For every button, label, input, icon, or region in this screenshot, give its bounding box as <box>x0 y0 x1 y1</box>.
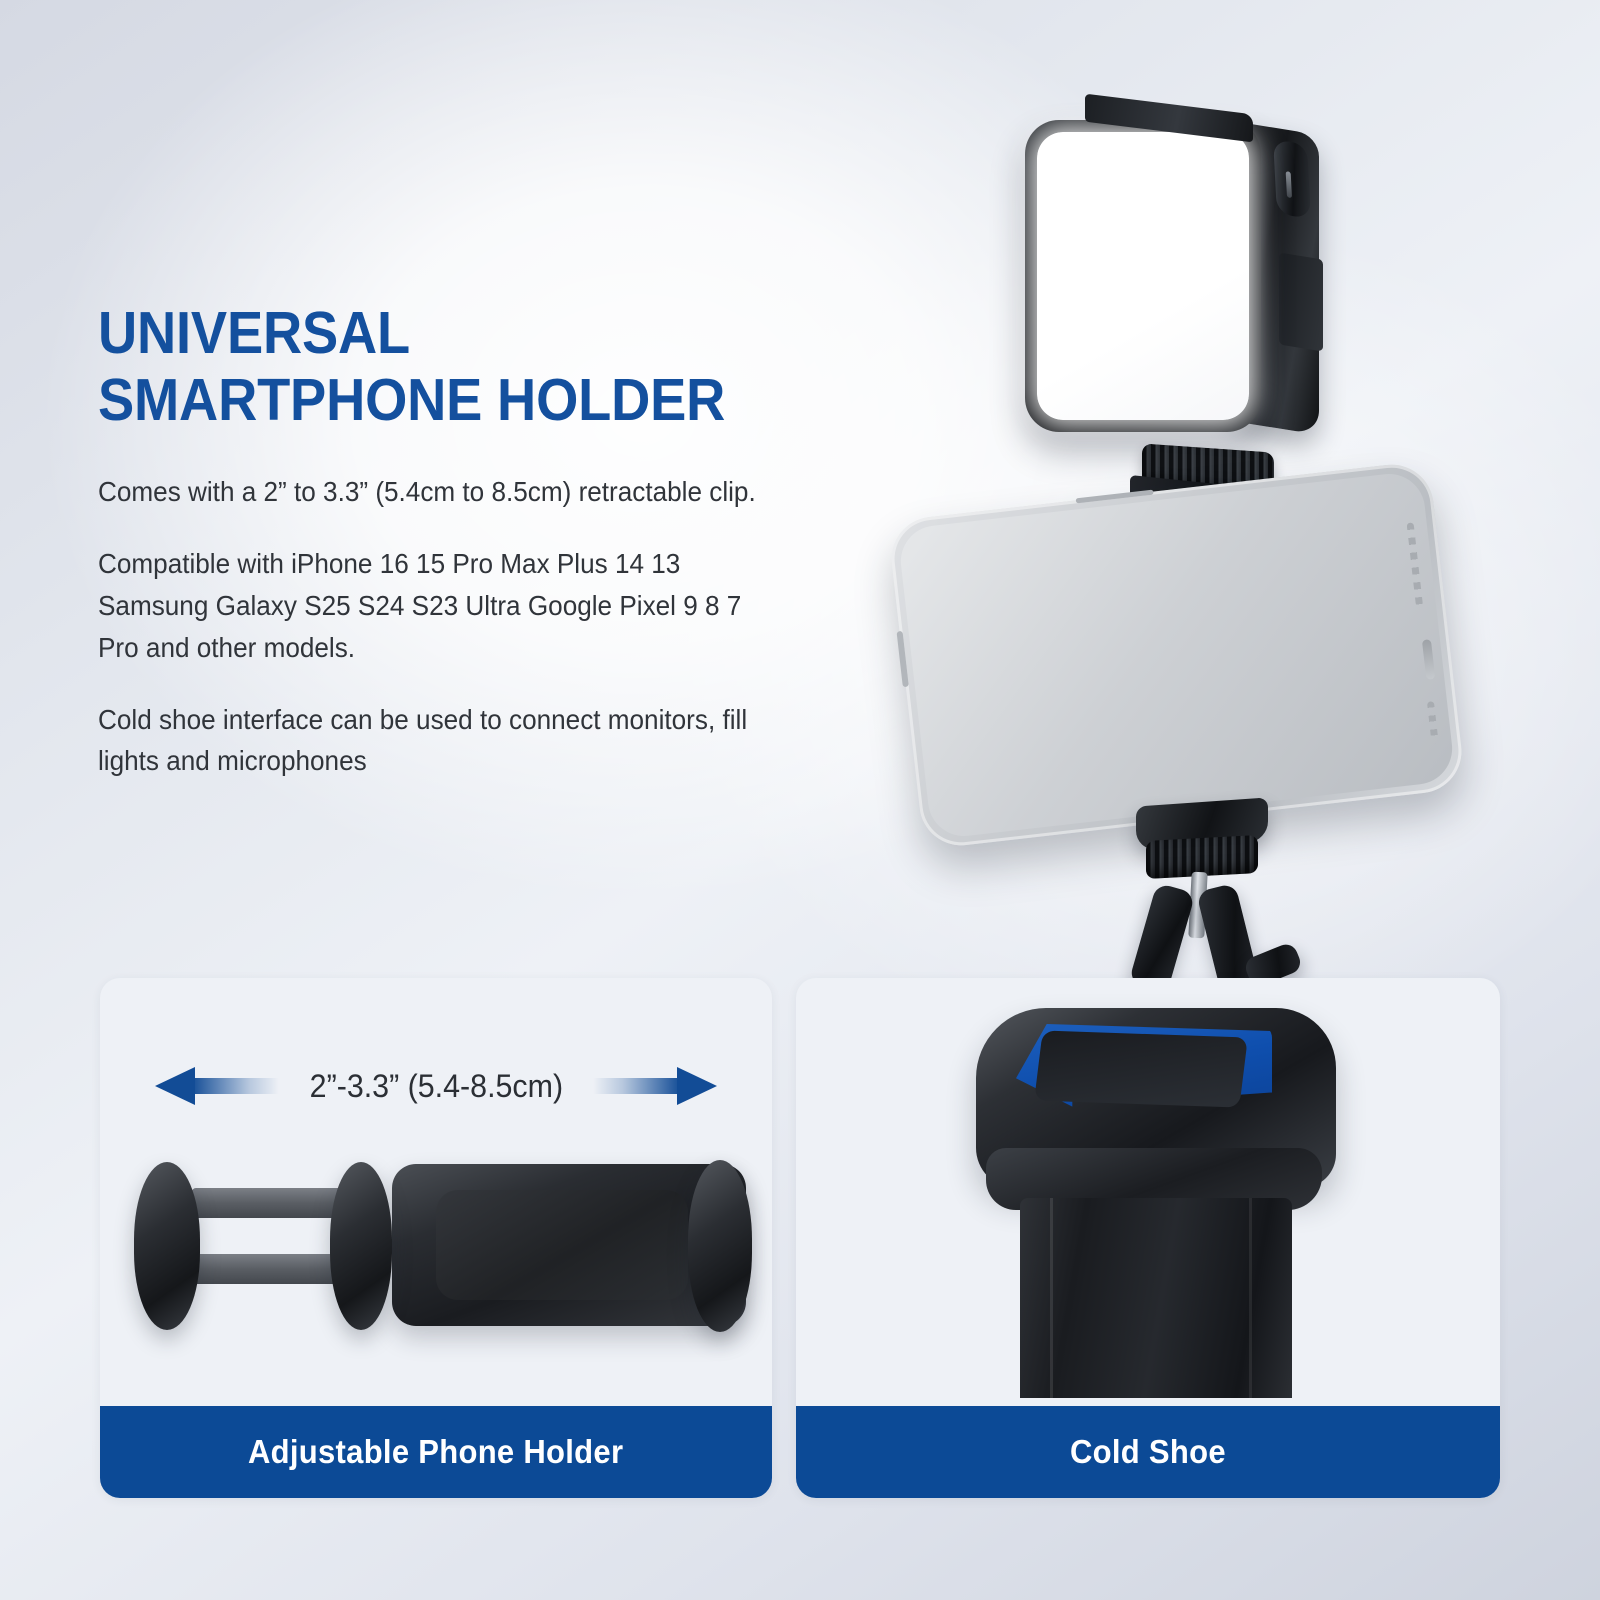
copy-block: UNIVERSAL SMARTPHONE HOLDER Comes with a… <box>98 300 798 782</box>
led-light-frame <box>1025 120 1261 432</box>
holder-grip-pad <box>436 1190 688 1300</box>
led-light-battery-door <box>1279 253 1323 352</box>
page-title-line-1: UNIVERSAL <box>98 300 742 367</box>
holder-end-cap-middle <box>330 1162 392 1330</box>
tripod-leg-left <box>1128 883 1195 994</box>
led-light-dial-knob <box>1273 140 1311 219</box>
left-arrow-head <box>155 1067 195 1105</box>
feature-paragraph-3: Cold shoe interface can be used to conne… <box>98 699 763 783</box>
panel-right-caption: Cold Shoe <box>796 1406 1500 1498</box>
lower-ball-head-mount <box>1128 802 1278 972</box>
panel-left-caption: Adjustable Phone Holder <box>100 1406 772 1498</box>
led-fill-light <box>1025 98 1345 458</box>
panel-left-illustration-area: 2”-3.3” (5.4-8.5cm) <box>100 978 772 1406</box>
smartphone <box>887 460 1466 850</box>
holder-end-cap-far <box>134 1162 200 1330</box>
page-title-line-2: SMARTPHONE HOLDER <box>98 367 742 434</box>
phone-holder-clamp-illustration <box>130 1146 746 1346</box>
right-arrow-icon <box>593 1067 717 1105</box>
holder-rail-upper <box>192 1188 352 1218</box>
phone-chassis <box>887 460 1466 850</box>
dimension-indicator-row: 2”-3.3” (5.4-8.5cm) <box>100 1056 772 1116</box>
panel-right-caption-text: Cold Shoe <box>1070 1433 1226 1471</box>
feature-paragraph-1: Comes with a 2” to 3.3” (5.4cm to 8.5cm)… <box>98 471 763 513</box>
panel-right-illustration-area <box>796 978 1500 1406</box>
hero-product-image <box>880 60 1540 990</box>
holder-rail-lower <box>192 1254 352 1284</box>
right-arrow-head <box>677 1067 717 1105</box>
dimension-label: 2”-3.3” (5.4-8.5cm) <box>309 1068 562 1105</box>
cold-shoe-illustration <box>976 1008 1336 1378</box>
cold-shoe-post <box>1020 1198 1292 1398</box>
phone-screen <box>897 470 1456 840</box>
right-arrow-tail <box>593 1078 681 1094</box>
led-light-panel-face <box>1037 132 1249 420</box>
panel-cold-shoe: Cold Shoe <box>796 978 1500 1498</box>
feature-paragraph-2: Compatible with iPhone 16 15 Pro Max Plu… <box>98 543 763 668</box>
holder-end-cap-near <box>688 1160 752 1332</box>
panel-adjustable-phone-holder: 2”-3.3” (5.4-8.5cm) Adjustable Phone H <box>100 978 772 1498</box>
cold-shoe-slot-recess <box>1034 1030 1248 1107</box>
left-arrow-tail <box>191 1078 279 1094</box>
product-infographic-page: UNIVERSAL SMARTPHONE HOLDER Comes with a… <box>0 0 1600 1600</box>
page-title: UNIVERSAL SMARTPHONE HOLDER <box>98 300 742 433</box>
panel-left-caption-text: Adjustable Phone Holder <box>248 1433 623 1471</box>
left-arrow-icon <box>155 1067 279 1105</box>
